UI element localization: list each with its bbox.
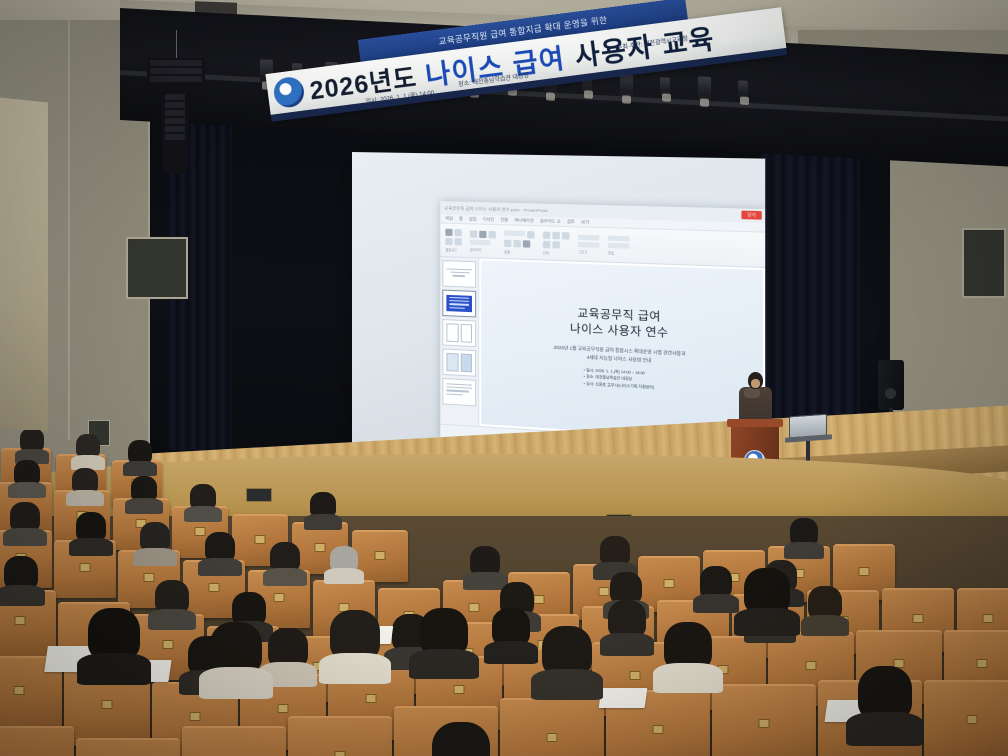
window-title: 교육공무직 급여 나이스 사용자 연수.pptx - PowerPoint	[444, 205, 548, 214]
wall-mounted-speaker-right	[962, 228, 1006, 298]
attendee	[310, 492, 336, 518]
attendee	[72, 468, 98, 494]
attendee	[664, 622, 712, 670]
attendee	[330, 610, 380, 660]
attendee	[542, 626, 592, 676]
slide-thumbnail[interactable]	[442, 348, 476, 376]
attendee	[420, 608, 468, 656]
seat	[76, 738, 180, 756]
attendee	[205, 532, 235, 562]
seat	[500, 698, 604, 756]
attendee	[190, 484, 216, 510]
slide-title-line2: 나이스 사용자 연수	[570, 322, 669, 342]
attendee	[432, 722, 490, 756]
tripod-speaker-right	[878, 360, 904, 410]
tab-insert[interactable]: 삽입	[469, 216, 477, 222]
handout-paper	[599, 688, 648, 708]
tab-transitions[interactable]: 전환	[500, 217, 508, 223]
ribbon-group-clipboard[interactable]: 클립보드	[445, 228, 461, 252]
attendee	[76, 434, 100, 458]
ribbon-group-slides[interactable]: 슬라이드	[470, 230, 496, 252]
seat	[924, 680, 1008, 756]
slide-thumbnail[interactable]	[442, 319, 476, 347]
attendee	[155, 580, 189, 614]
attendee	[744, 568, 790, 614]
slide-bullet-list: 일시: 2026. 1. 1.(목) 14:00 ~ 16:00 장소: 대전충…	[584, 367, 655, 392]
attendee	[131, 476, 157, 502]
current-slide: 교육공무직 급여 나이스 사용자 연수 2026년 1월 교육공무직원 급여 통…	[481, 260, 763, 441]
attendee	[210, 622, 262, 674]
audience-seating	[0, 430, 1008, 756]
slide-thumbnail[interactable]	[442, 260, 476, 288]
tab-slideshow[interactable]: 슬라이드 쇼	[540, 218, 561, 225]
podium-top	[727, 419, 783, 427]
seat	[288, 716, 392, 756]
tab-review[interactable]: 검토	[567, 219, 575, 225]
presenter-face	[751, 379, 760, 388]
seat	[712, 684, 816, 756]
attendee	[790, 518, 818, 546]
slide-thumbnail[interactable]	[442, 378, 476, 406]
ribbon-group-label: 클립보드	[445, 247, 461, 253]
auditorium-photo-scene: 교육공무직 급여 나이스 사용자 연수.pptx - PowerPoint 닫기…	[0, 0, 1008, 756]
apron-vent	[246, 488, 272, 502]
attendee	[808, 586, 842, 620]
ribbon-group-label: 글꼴	[504, 248, 534, 254]
line-array-speaker-left-lower	[162, 92, 188, 174]
slide-thumbnail-selected[interactable]	[442, 290, 476, 318]
seat	[182, 726, 286, 756]
ribbon-group-label: 편집	[608, 250, 630, 256]
wall-panel-seam	[68, 20, 70, 440]
line-array-speaker-left	[147, 58, 205, 92]
ribbon-group-paragraph[interactable]: 단락	[543, 231, 569, 256]
education-office-logo-icon	[272, 75, 306, 109]
attendee	[700, 566, 732, 598]
attendee	[232, 592, 266, 626]
tab-home[interactable]: 홈	[459, 216, 463, 222]
attendee	[88, 608, 140, 660]
ribbon-group-label: 그리기	[578, 249, 599, 255]
attendee	[140, 522, 170, 552]
tab-design[interactable]: 디자인	[483, 217, 494, 223]
attendee	[4, 556, 38, 590]
attendee	[492, 608, 530, 646]
slide-thumbnail-panel[interactable]	[440, 257, 479, 426]
tab-animations[interactable]: 애니메이션	[514, 217, 533, 224]
ribbon-group-editing[interactable]: 편집	[608, 235, 630, 256]
attendee	[14, 460, 40, 486]
attendee	[600, 536, 630, 566]
attendee	[330, 546, 358, 572]
wall-left-angled-panel	[0, 97, 48, 432]
ribbon-group-label: 단락	[543, 250, 569, 256]
close-icon[interactable]: 닫기	[741, 211, 761, 220]
attendee	[128, 440, 152, 464]
attendee	[470, 546, 500, 576]
tab-view[interactable]: 보기	[581, 219, 589, 225]
slide-editing-area[interactable]: 교육공무직 급여 나이스 사용자 연수 2026년 1월 교육공무직원 급여 통…	[479, 258, 765, 444]
presenter-scarf	[744, 388, 760, 398]
attendee	[10, 502, 40, 532]
powerpoint-body: 교육공무직 급여 나이스 사용자 연수 2026년 1월 교육공무직원 급여 통…	[440, 257, 765, 444]
attendee	[76, 512, 106, 542]
ribbon-group-font[interactable]: 글꼴	[504, 230, 534, 255]
attendee	[20, 430, 44, 452]
attendee	[268, 628, 308, 668]
seat	[0, 726, 74, 756]
attendee	[858, 666, 912, 720]
ribbon-group-drawing[interactable]: 그리기	[578, 234, 599, 254]
attendee	[608, 600, 646, 638]
wall-mounted-speaker-left	[126, 237, 188, 299]
stage-light-icon	[738, 80, 748, 99]
attendee	[270, 542, 300, 572]
tab-file[interactable]: 파일	[445, 215, 453, 221]
ribbon-group-label: 슬라이드	[470, 246, 496, 252]
